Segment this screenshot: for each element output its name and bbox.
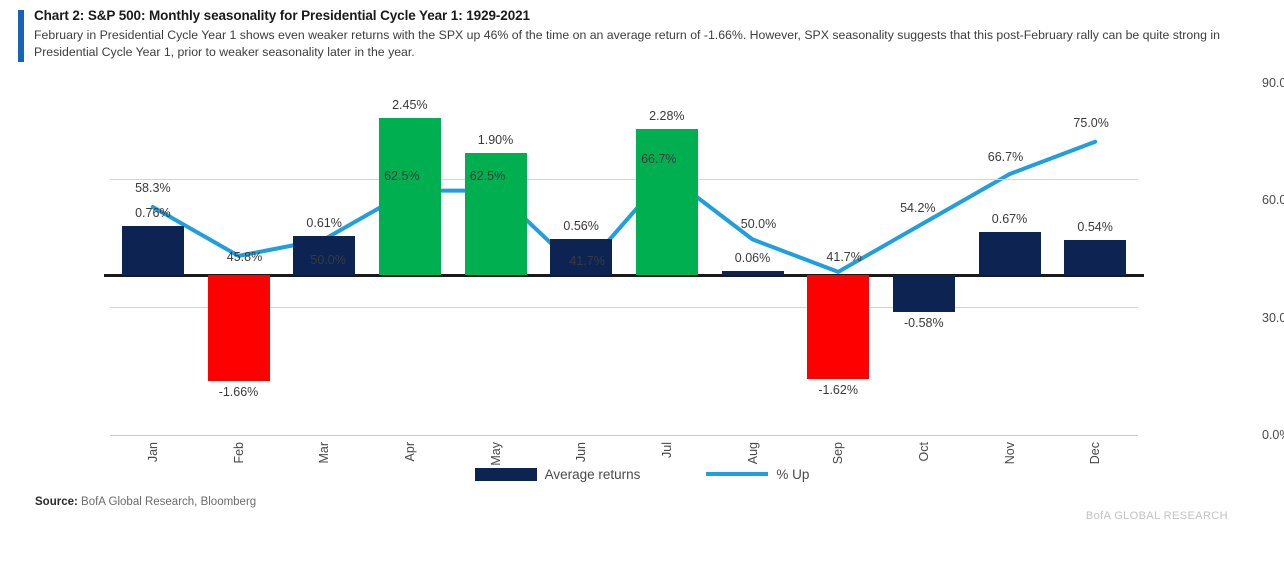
legend-line-swatch-icon bbox=[706, 472, 768, 476]
bar-apr[interactable] bbox=[379, 118, 441, 275]
percent-up-label: 58.3% bbox=[108, 181, 198, 195]
percent-up-label: 41.7% bbox=[542, 254, 632, 268]
percent-up-label: 45.8% bbox=[200, 250, 290, 264]
header-accent-bar bbox=[18, 10, 24, 62]
x-axis-label-apr: Apr bbox=[403, 442, 417, 461]
bar-value-label: 0.56% bbox=[536, 219, 626, 233]
percent-up-label: 62.5% bbox=[443, 169, 533, 183]
x-axis-label-sep: Sep bbox=[831, 442, 845, 464]
legend-label: % Up bbox=[776, 467, 809, 482]
percent-up-label: 66.7% bbox=[961, 150, 1051, 164]
y-axis-right-tick: 90.0% bbox=[1262, 76, 1284, 90]
bar-oct[interactable] bbox=[893, 275, 955, 312]
y-axis-right-tick: 60.0% bbox=[1262, 193, 1284, 207]
plot-area: 1.50%-0.50%-2.50%90.0%60.0%30.0%0.0%0.76… bbox=[110, 83, 1138, 435]
gridline-left bbox=[110, 179, 1138, 180]
bar-dec[interactable] bbox=[1064, 240, 1126, 275]
bar-value-label: -1.66% bbox=[194, 385, 284, 399]
y-axis-right-tick: 0.0% bbox=[1262, 428, 1284, 442]
x-axis-label-mar: Mar bbox=[317, 442, 331, 464]
percent-up-label: 62.5% bbox=[357, 169, 447, 183]
bar-aug[interactable] bbox=[722, 271, 784, 275]
x-axis-label-nov: Nov bbox=[1003, 442, 1017, 464]
percent-up-label: 50.0% bbox=[714, 217, 804, 231]
bar-jan[interactable] bbox=[122, 226, 184, 275]
percent-up-label: 54.2% bbox=[873, 201, 963, 215]
bar-value-label: 0.54% bbox=[1050, 220, 1140, 234]
legend-label: Average returns bbox=[545, 467, 641, 482]
bar-sep[interactable] bbox=[807, 275, 869, 379]
x-axis-label-feb: Feb bbox=[232, 442, 246, 464]
bar-value-label: 0.06% bbox=[708, 251, 798, 265]
chart-legend: Average returns% Up bbox=[0, 462, 1284, 486]
source-text: BofA Global Research, Bloomberg bbox=[81, 496, 256, 508]
x-axis-label-oct: Oct bbox=[917, 442, 931, 461]
source-label: Source: bbox=[35, 496, 78, 508]
bar-nov[interactable] bbox=[979, 232, 1041, 275]
x-axis bbox=[110, 435, 1138, 436]
percent-up-label: 66.7% bbox=[614, 152, 704, 166]
percent-up-label: 41.7% bbox=[799, 250, 889, 264]
bar-value-label: 0.67% bbox=[965, 212, 1055, 226]
legend-item[interactable]: % Up bbox=[706, 467, 809, 482]
chart-container: 1.50%-0.50%-2.50%90.0%60.0%30.0%0.0%0.76… bbox=[0, 70, 1284, 490]
percent-up-label: 75.0% bbox=[1046, 116, 1136, 130]
bar-value-label: 2.45% bbox=[365, 98, 455, 112]
bar-value-label: -0.58% bbox=[879, 316, 969, 330]
legend-bar-swatch-icon bbox=[475, 468, 537, 481]
x-axis-label-jan: Jan bbox=[146, 442, 160, 462]
bar-feb[interactable] bbox=[208, 275, 270, 381]
x-axis-label-jul: Jul bbox=[660, 442, 674, 458]
percent-up-label: 50.0% bbox=[283, 253, 373, 267]
bar-value-label: 0.61% bbox=[279, 216, 369, 230]
x-axis-label-aug: Aug bbox=[746, 442, 760, 464]
chart-header: Chart 2: S&P 500: Monthly seasonality fo… bbox=[18, 8, 1258, 66]
chart-subtitle: February in Presidential Cycle Year 1 sh… bbox=[34, 27, 1244, 60]
bar-value-label: 2.28% bbox=[622, 109, 712, 123]
y-axis-right-tick: 30.0% bbox=[1262, 311, 1284, 325]
page-title: Chart 2: S&P 500: Monthly seasonality fo… bbox=[34, 8, 530, 23]
legend-item[interactable]: Average returns bbox=[475, 467, 641, 482]
bar-jul[interactable] bbox=[636, 129, 698, 275]
source-note: Source: BofA Global Research, Bloomberg bbox=[35, 496, 256, 508]
bar-value-label: 1.90% bbox=[451, 133, 541, 147]
bar-value-label: 0.76% bbox=[108, 206, 198, 220]
x-axis-label-jun: Jun bbox=[574, 442, 588, 462]
bar-value-label: -1.62% bbox=[793, 383, 883, 397]
x-axis-label-dec: Dec bbox=[1088, 442, 1102, 464]
watermark: BofA GLOBAL RESEARCH bbox=[1086, 510, 1228, 522]
